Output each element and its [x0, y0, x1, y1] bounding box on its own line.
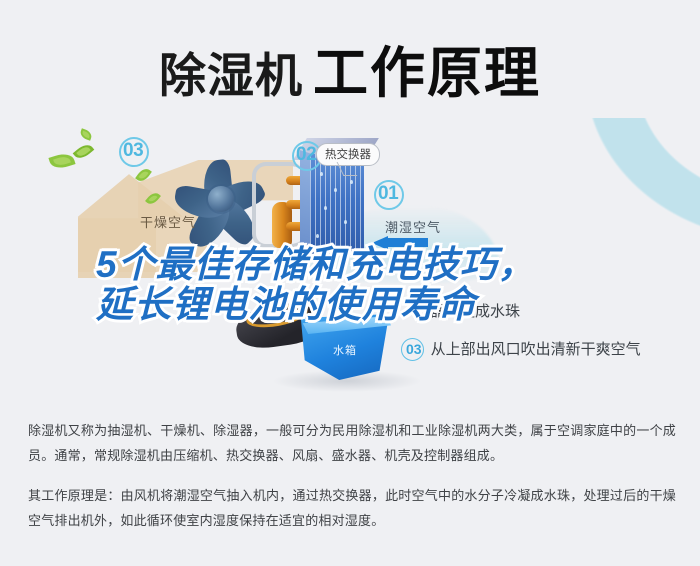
- body-paragraph-2: 其工作原理是：由风机将潮湿空气抽入机内，通过热交换器，此时空气中的水分子冷凝成水…: [28, 483, 676, 534]
- step-line-03-number: 03: [404, 341, 424, 357]
- condensation-droplet: [334, 188, 337, 192]
- step-badge-03: 03: [123, 140, 143, 162]
- step-badge-02: 02: [296, 144, 316, 166]
- condensation-droplet: [350, 180, 353, 184]
- step-badge-01: 01: [378, 183, 398, 205]
- dry-air-label: 干燥空气: [140, 212, 196, 231]
- arrow-shaft: [386, 238, 428, 247]
- condensation-droplet: [316, 234, 319, 238]
- humid-air-label: 潮湿空气: [385, 217, 441, 236]
- leaf-icon: [48, 151, 75, 172]
- condensation-droplet: [320, 172, 323, 176]
- condensation-droplet: [344, 220, 347, 224]
- water-tank-illustration: 水箱: [297, 314, 393, 380]
- article-body: 除湿机又称为抽湿机、干燥机、除湿器，一般可分为民用除湿机和工业除湿机两大类，属于…: [28, 418, 676, 533]
- humid-air-swoosh: [440, 118, 700, 320]
- leaf-icon: [73, 141, 95, 162]
- step-line-03: 03从上部出风口吹出清新干爽空气: [404, 338, 641, 359]
- fan-hub: [208, 186, 234, 212]
- air-intake-arrow: [372, 236, 428, 249]
- water-tank-label: 水箱: [333, 342, 357, 358]
- arrow-head: [372, 236, 388, 250]
- page-title: 除湿机工作原理: [0, 28, 700, 108]
- step-line-03-text: 从上部出风口吹出清新干爽空气: [431, 341, 641, 358]
- title-part-primary: 除湿机: [159, 49, 303, 102]
- step-line-02-text: 器冷凝成水珠: [430, 303, 520, 320]
- condensation-droplet: [324, 206, 327, 210]
- body-paragraph-1: 除湿机又称为抽湿机、干燥机、除湿器，一般可分为民用除湿机和工业除湿机两大类，属于…: [28, 418, 676, 469]
- heat-exchanger-fins: [310, 154, 364, 254]
- step-line-02: 器冷凝成水珠: [430, 300, 520, 321]
- title-part-secondary: 工作原理: [313, 42, 541, 104]
- leaf-icon: [79, 128, 93, 141]
